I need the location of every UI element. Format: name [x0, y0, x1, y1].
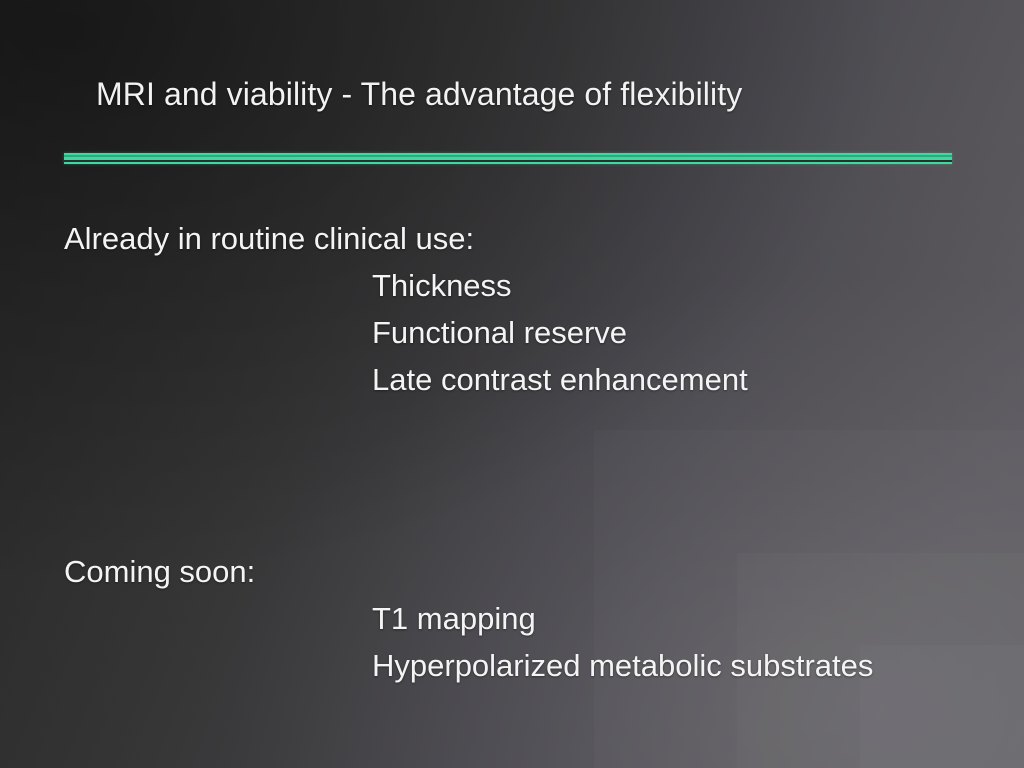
presentation-slide: MRI and viability - The advantage of fle…: [0, 0, 1024, 768]
list-item: T1 mapping: [64, 595, 1004, 642]
list-item: Hyperpolarized metabolic substrates: [64, 642, 1004, 689]
section-item-list: T1 mapping Hyperpolarized metabolic subs…: [64, 595, 1004, 689]
section-heading: Already in routine clinical use:: [64, 216, 1004, 262]
section-already-in-use: Already in routine clinical use: Thickne…: [64, 216, 1004, 403]
title-divider-rule: [64, 152, 952, 165]
section-item-list: Thickness Functional reserve Late contra…: [64, 262, 1004, 403]
list-item: Functional reserve: [64, 309, 1004, 356]
list-item: Late contrast enhancement: [64, 356, 1004, 403]
divider-inner-line-bottom: [64, 160, 952, 162]
section-coming-soon: Coming soon: T1 mapping Hyperpolarized m…: [64, 549, 1004, 689]
divider-inner-line-top: [64, 155, 952, 157]
slide-title: MRI and viability - The advantage of fle…: [96, 74, 976, 114]
slide-content: MRI and viability - The advantage of fle…: [0, 0, 1024, 768]
list-item: Thickness: [64, 262, 1004, 309]
section-heading: Coming soon:: [64, 549, 1004, 595]
